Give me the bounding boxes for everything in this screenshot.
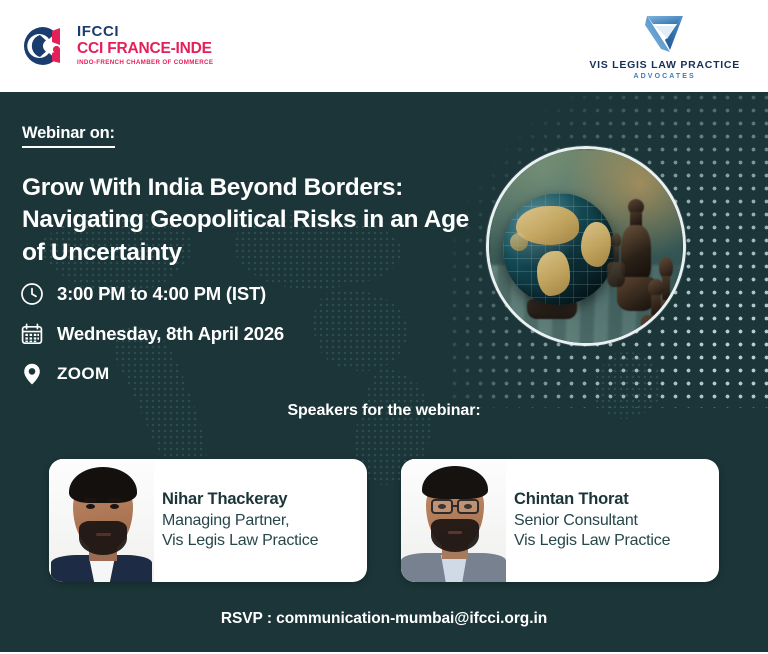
- speaker-card: Chintan Thorat Senior Consultant Vis Leg…: [401, 459, 719, 582]
- vis-legis-logo: VIS LEGIS LAW PRACTICE ADVOCATES: [589, 11, 740, 82]
- ifcci-c-monogram-icon: [18, 23, 68, 69]
- ifcci-logo-tagline: INDO-FRENCH CHAMBER OF COMMERCE: [77, 58, 213, 67]
- clock-icon: [20, 282, 44, 306]
- poster-header: IFCCI CCI FRANCE-INDE INDO-FRENCH CHAMBE…: [0, 0, 768, 92]
- event-detail-time: 3:00 PM to 4:00 PM (IST): [20, 282, 284, 306]
- webinar-eyebrow-label: Webinar on:: [22, 124, 115, 148]
- speaker-role: Managing Partner,: [162, 511, 357, 531]
- speaker-portrait-chintan-thorat: [401, 459, 506, 582]
- ifcci-logo: IFCCI CCI FRANCE-INDE INDO-FRENCH CHAMBE…: [18, 23, 213, 69]
- ifcci-logo-line2: CCI FRANCE-INDE: [77, 40, 213, 57]
- speaker-cards: Nihar Thackeray Managing Partner, Vis Le…: [0, 459, 768, 582]
- rsvp-line[interactable]: RSVP : communication-mumbai@ifcci.org.in: [0, 610, 768, 628]
- event-detail-platform: ZOOM: [20, 362, 284, 386]
- poster-body: Webinar on: Grow With India Beyond Borde…: [0, 92, 768, 652]
- speaker-name: Chintan Thorat: [514, 489, 709, 510]
- event-time-text: 3:00 PM to 4:00 PM (IST): [57, 284, 266, 304]
- vis-legis-triangle-icon: [637, 11, 693, 57]
- speaker-card: Nihar Thackeray Managing Partner, Vis Le…: [49, 459, 367, 582]
- speaker-firm: Vis Legis Law Practice: [162, 531, 357, 551]
- speaker-role: Senior Consultant: [514, 511, 709, 531]
- speaker-name: Nihar Thackeray: [162, 489, 357, 510]
- ifcci-logo-line1: IFCCI: [77, 24, 213, 40]
- vis-legis-logo-subtitle: ADVOCATES: [633, 73, 695, 81]
- vis-legis-logo-name: VIS LEGIS LAW PRACTICE: [589, 59, 740, 72]
- event-date-text: Wednesday, 8th April 2026: [57, 324, 284, 344]
- webinar-poster: IFCCI CCI FRANCE-INDE INDO-FRENCH CHAMBE…: [0, 0, 768, 654]
- event-platform-text: ZOOM: [57, 365, 110, 384]
- calendar-icon: [20, 322, 44, 346]
- event-detail-date: Wednesday, 8th April 2026: [20, 322, 284, 346]
- globe-and-chess-photo: [486, 146, 686, 346]
- location-pin-icon: [20, 362, 44, 386]
- page-title: Grow With India Beyond Borders: Navigati…: [22, 172, 492, 269]
- speaker-firm: Vis Legis Law Practice: [514, 531, 709, 551]
- event-details-list: 3:00 PM to 4:00 PM (IST) W: [20, 282, 284, 386]
- speakers-heading: Speakers for the webinar:: [0, 402, 768, 420]
- speaker-portrait-nihar-thackeray: [49, 459, 154, 582]
